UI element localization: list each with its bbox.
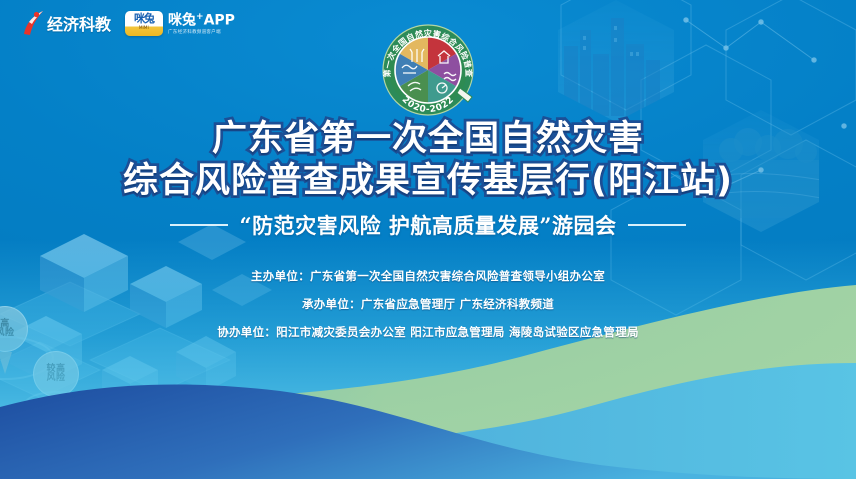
logo-text-mimian: 咪兔+APP	[168, 10, 235, 29]
poster-banner: 高 风险 较高 风险	[0, 0, 856, 479]
co-organizer-line: 承办单位：广东省应急管理厅 广东经济科教频道	[0, 290, 856, 318]
subtitle-rule-right	[628, 224, 686, 226]
supporter-line: 协办单位：阳江市减灾委员会办公室 阳江市应急管理局 海陵岛试验区应急管理局	[0, 318, 856, 346]
logo-text-jjkj: 经济科教	[47, 11, 111, 35]
mimian-badge-icon: 咪兔 MIMI	[125, 11, 163, 36]
logo-tagline: 广东经济科教频道客户端	[168, 29, 235, 36]
swoosh-figure-icon	[22, 10, 44, 36]
badge-main-text: 咪兔	[134, 12, 154, 25]
title-line-1-wrap: 广东省第一次全国自然灾害 广东省第一次全国自然灾害	[212, 118, 644, 160]
subtitle-text: “防范灾害风险 护航高质量发展”游园会	[240, 210, 617, 240]
logo-mimian-text-block: 咪兔+APP 广东经济科教频道客户端	[168, 10, 235, 36]
title-block: 广东省第一次全国自然灾害 广东省第一次全国自然灾害 综合风险普查成果宣传基层行(…	[0, 118, 856, 240]
organization-block: 主办单位：广东省第一次全国自然灾害综合风险普查领导小组办公室 承办单位：广东省应…	[0, 262, 856, 346]
title-line-2: 综合风险普查成果宣传基层行(阳江站)	[123, 160, 733, 202]
title-line-2-wrap: 综合风险普查成果宣传基层行(阳江站) 综合风险普查成果宣传基层行(阳江站)	[123, 160, 733, 202]
subtitle-row: “防范灾害风险 护航高质量发展”游园会	[0, 210, 856, 240]
logo-guangdong-economy-science-education: 经济科教	[22, 10, 111, 36]
title-line-1: 广东省第一次全国自然灾害	[212, 118, 644, 160]
organizer-line: 主办单位：广东省第一次全国自然灾害综合风险普查领导小组办公室	[0, 262, 856, 290]
logo-mimian-app: 咪兔 MIMI 咪兔+APP 广东经济科教频道客户端	[125, 10, 235, 36]
badge-sub-text: MIMI	[139, 25, 149, 31]
national-census-emblem: 第一次全国自然灾害综合风险普查 2020-2022	[372, 16, 484, 124]
header-logo-group: 经济科教 咪兔 MIMI 咪兔+APP 广东经济科教频道客户端	[22, 10, 235, 36]
subtitle-rule-left	[170, 224, 228, 226]
